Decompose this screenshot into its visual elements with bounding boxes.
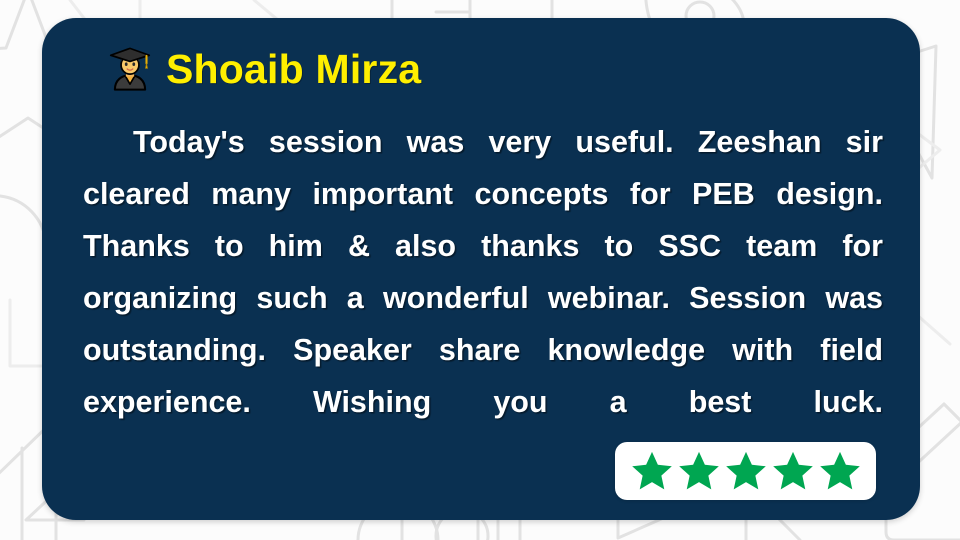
rating-badge [615,442,876,500]
star-icon [818,449,862,493]
star-icon [677,449,721,493]
testimonial-card-screenshot: Shoaib Mirza Today's session was very us… [0,0,960,540]
star-icon [630,449,674,493]
star-icon [771,449,815,493]
reviewer-name: Shoaib Mirza [166,49,421,90]
graduate-student-icon [108,46,152,92]
review-text: Today's session was very useful. Zeeshan… [83,116,883,480]
reviewer-header: Shoaib Mirza [108,40,890,98]
star-icon [724,449,768,493]
